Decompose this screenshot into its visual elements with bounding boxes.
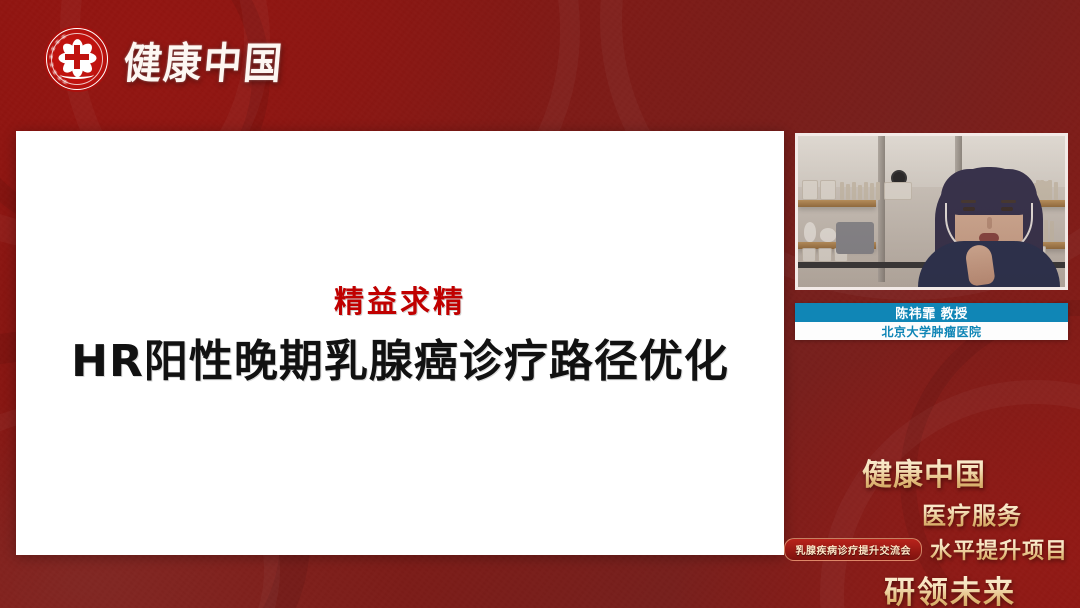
brand-line-medical-service: 医疗服务 — [922, 496, 1022, 531]
logo-wordmark: 健康中国 — [121, 28, 286, 90]
brand-slogan: 研领未来 — [884, 567, 1016, 608]
speaker-organization: 北京大学肿瘤医院 — [795, 322, 1068, 340]
presentation-slide[interactable]: 精益求精 HR阳性晚期乳腺癌诊疗路径优化 — [16, 131, 784, 555]
slide-content: 精益求精 HR阳性晚期乳腺癌诊疗路径优化 — [16, 277, 784, 389]
health-china-emblem-icon — [44, 26, 110, 92]
virtual-background — [798, 136, 1065, 287]
header-logo: 健康中国 — [44, 26, 284, 92]
broadcast-stage: 健康中国 精益求精 HR阳性晚期乳腺癌诊疗路径优化 — [0, 0, 1080, 608]
brand-line-improvement-program: 水平提升项目 — [930, 533, 1068, 565]
brand-line-program: 乳腺疾病诊疗提升交流会 水平提升项目 — [784, 533, 1068, 565]
brand-line-health-china: 健康中国 — [862, 450, 986, 494]
slide-kicker: 精益求精 — [16, 277, 784, 321]
speaker-name: 陈祎霏 教授 — [795, 303, 1068, 322]
speaker-video-tile[interactable] — [795, 133, 1068, 290]
event-badge: 乳腺疾病诊疗提升交流会 — [784, 538, 922, 561]
speaker-name-banner: 陈祎霏 教授 北京大学肿瘤医院 — [795, 303, 1068, 340]
event-branding: 健康中国 医疗服务 乳腺疾病诊疗提升交流会 水平提升项目 研领未来 — [800, 458, 1072, 604]
page-title: HR阳性晚期乳腺癌诊疗路径优化 — [16, 325, 784, 389]
